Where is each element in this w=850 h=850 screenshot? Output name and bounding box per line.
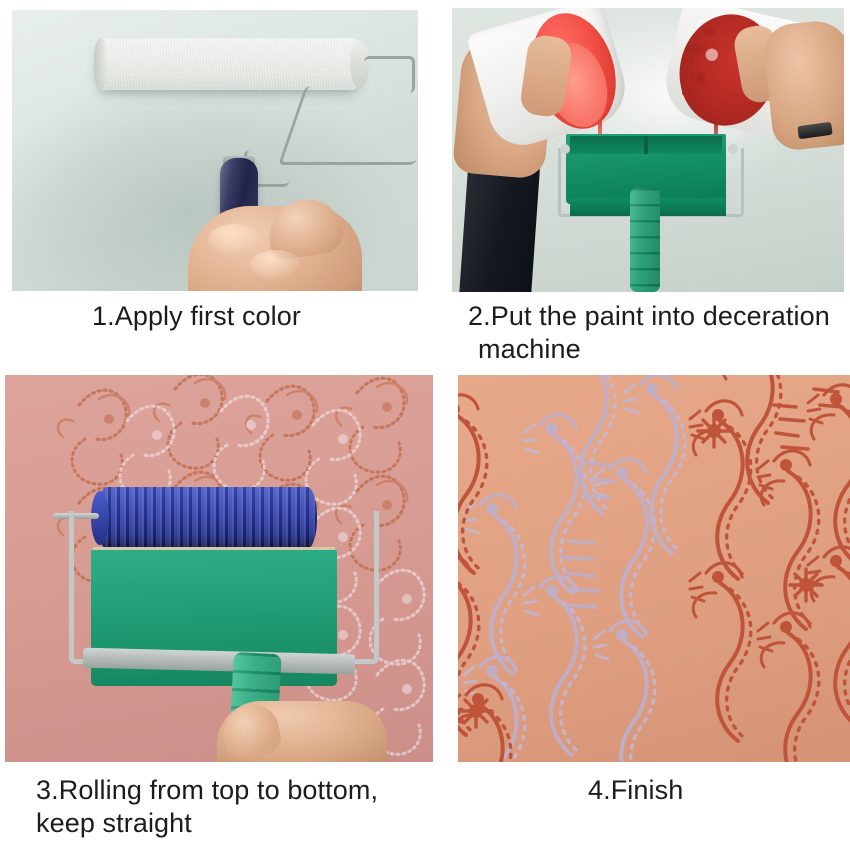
caption-step-2-line-2: machine	[468, 333, 850, 366]
caption-step-4: 4.Finish	[588, 774, 683, 807]
caption-step-3-line-2: keep straight	[36, 807, 456, 840]
photo-step-4-finished-wall	[458, 375, 850, 762]
caption-step-2-line-1: 2.Put the paint into deceration	[468, 300, 850, 333]
caption-step-1: 1.Apply first color	[92, 300, 301, 333]
dark-shirt-sleeve	[459, 158, 540, 292]
paint-splatter	[682, 88, 694, 97]
decoration-machine-grip	[630, 188, 660, 292]
tray-bracket-knob	[728, 144, 738, 154]
paint-splatter	[704, 28, 714, 36]
photo-step-3-rolling-top-to-bottom	[5, 375, 433, 762]
caption-step-2: 2.Put the paint into deceration machine	[468, 300, 850, 366]
photo-step-2-pour-paint-into-machine	[452, 8, 844, 292]
caption-step-3-line-1: 3.Rolling from top to bottom,	[36, 774, 456, 807]
instruction-sheet: 1.Apply first color 2.Put the paint into…	[0, 0, 850, 850]
paint-roller-sleeve	[94, 38, 362, 90]
finished-damask-pattern	[458, 375, 850, 762]
tray-divider	[644, 136, 648, 154]
roller-frame-wire-mid	[278, 86, 418, 165]
tray-metal-bracket	[69, 511, 379, 664]
photo-step-1-apply-first-color	[12, 10, 418, 291]
knuckle-highlight	[250, 250, 302, 280]
tray-bracket-knob	[560, 144, 570, 154]
caption-step-3: 3.Rolling from top to bottom, keep strai…	[36, 774, 456, 840]
paint-splatter	[688, 44, 702, 54]
paint-splatter	[696, 72, 705, 84]
knuckle-highlight	[208, 224, 260, 254]
